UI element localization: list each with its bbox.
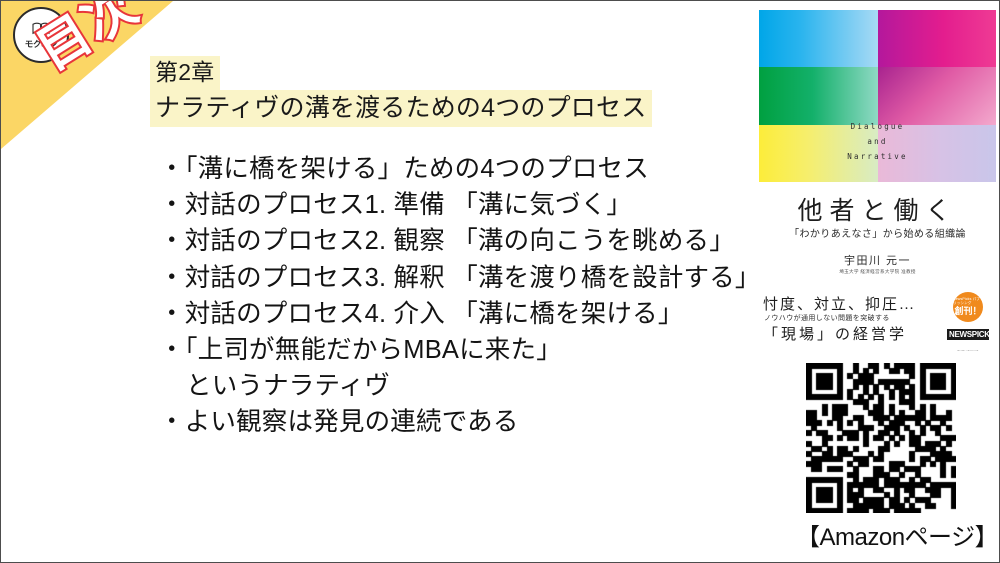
slide-root: モクホン 目次 第2章 ナラティヴの溝を渡るための4つのプロセス ・「溝に橋を架…	[0, 0, 1000, 563]
obi-line-3: 「現場」の経営学	[763, 323, 907, 344]
list-item: ・対話のプロセス4. 介入 「溝に橋を架ける」	[159, 296, 759, 332]
list-item-continuation: というナラティヴ	[159, 368, 759, 404]
list-item: ・対話のプロセス2. 観察 「溝の向こうを眺める」	[159, 223, 759, 259]
cover-en-line-2: and	[867, 134, 887, 149]
qr-code-image[interactable]	[806, 363, 956, 513]
list-item: ・よい観察は発見の連続である	[159, 404, 759, 440]
publisher-name: NEWSPICKS	[947, 329, 989, 340]
list-item: ・「溝に橋を架ける」ための4つのプロセス	[159, 151, 759, 187]
chapter-label: 第2章	[150, 56, 220, 90]
amazon-qr-block[interactable]: 【Amazonページ】	[796, 363, 966, 552]
list-item: ・「上司が無能だからMBAに来た」	[159, 332, 759, 368]
list-item: ・対話のプロセス1. 準備 「溝に気づく」	[159, 187, 759, 223]
cover-author: 宇田川 元一	[754, 252, 1000, 268]
launch-badge: NewsPicks パブリッシング 創刊！	[953, 292, 983, 322]
launch-badge-top: NewsPicks パブリッシング	[953, 298, 983, 305]
obi-line-2: ノウハウが通用しない問題を突破する	[764, 313, 890, 323]
list-item: ・対話のプロセス3. 解釈 「溝を渡り橋を設計する」	[159, 260, 759, 296]
cover-author-affiliation: 埼玉大学 経済経営系大学院 准教授	[754, 269, 1000, 275]
bullet-list: ・「溝に橋を架ける」ための4つのプロセス ・対話のプロセス1. 準備 「溝に気づ…	[159, 151, 759, 441]
amazon-link-label: 【Amazonページ】	[796, 517, 966, 552]
book-cover-image: Dialogue and Narrative 他者と働く 「わかりあえなさ」から…	[754, 1, 1000, 351]
publisher-logo: NEWSPICKS PUBLISHING	[947, 329, 989, 351]
cover-en-line-3: Narrative	[847, 149, 907, 164]
cover-title: 他者と働く	[754, 191, 1000, 227]
cover-obi-band: 忖度、対立、抑圧… ノウハウが通用しない問題を突破する 「現場」の経営学 New…	[759, 291, 996, 349]
cover-en-line-1: Dialogue	[851, 119, 905, 134]
chapter-heading: ナラティヴの溝を渡るための4つのプロセス	[150, 90, 652, 127]
obi-line-1: 忖度、対立、抑圧…	[763, 293, 916, 314]
cover-english-text: Dialogue and Narrative	[759, 10, 996, 182]
cover-subtitle: 「わかりあえなさ」から始める組織論	[754, 225, 1000, 240]
launch-badge-bottom: 創刊！	[954, 307, 981, 316]
publisher-sub: PUBLISHING	[957, 350, 978, 351]
page-title: 第2章 ナラティヴの溝を渡るための4つのプロセス	[150, 56, 652, 127]
